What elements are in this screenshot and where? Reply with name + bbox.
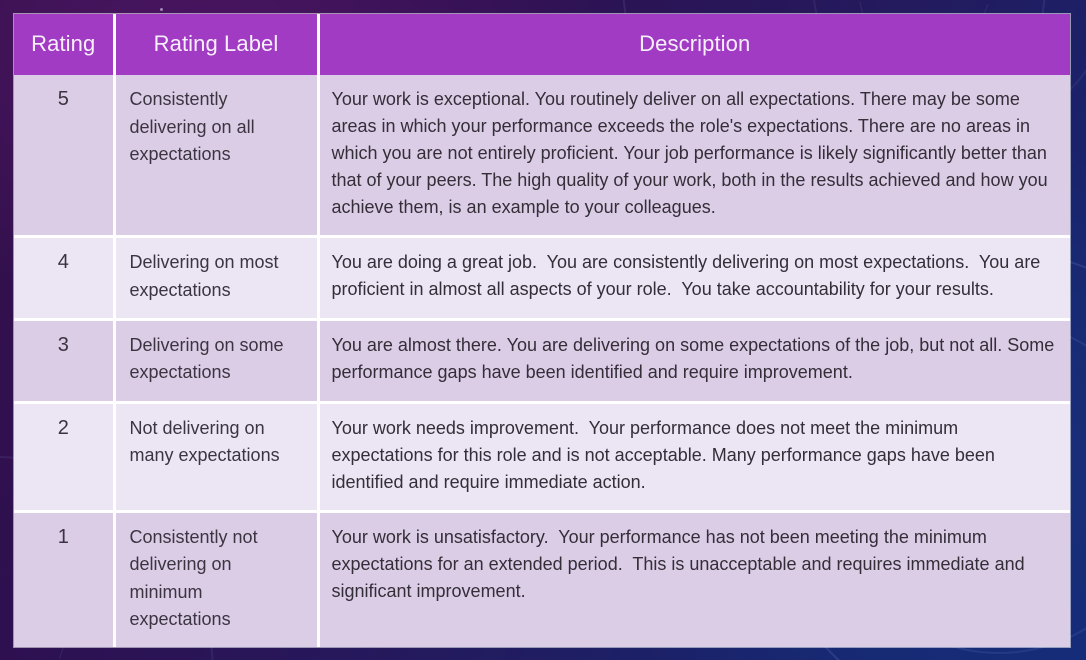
- cell-description: You are doing a great job. You are consi…: [318, 237, 1070, 320]
- cell-rating: 3: [14, 320, 114, 403]
- table-row: 3 Delivering on some expectations You ar…: [14, 320, 1070, 403]
- cell-rating-label: Delivering on some expectations: [114, 320, 318, 403]
- cell-rating: 1: [14, 511, 114, 647]
- cell-description: Your work needs improvement. Your perfor…: [318, 402, 1070, 511]
- cell-rating-label: Not delivering on many expectations: [114, 402, 318, 511]
- performance-rating-table: Rating Rating Label Description 5 Consis…: [14, 14, 1070, 647]
- table-row: 4 Delivering on most expectations You ar…: [14, 237, 1070, 320]
- table-row: 5 Consistently delivering on all expecta…: [14, 75, 1070, 237]
- table-row: 2 Not delivering on many expectations Yo…: [14, 402, 1070, 511]
- table-body: 5 Consistently delivering on all expecta…: [14, 75, 1070, 647]
- table-row: 1 Consistently not delivering on minimum…: [14, 511, 1070, 647]
- cell-rating: 2: [14, 402, 114, 511]
- cell-rating: 4: [14, 237, 114, 320]
- cell-rating-label: Consistently delivering on all expectati…: [114, 75, 318, 237]
- cell-description: Your work is exceptional. You routinely …: [318, 75, 1070, 237]
- cell-description: Your work is unsatisfactory. Your perfor…: [318, 511, 1070, 647]
- column-header-rating-label: Rating Label: [114, 14, 318, 75]
- cell-rating-label: Delivering on most expectations: [114, 237, 318, 320]
- column-header-description: Description: [318, 14, 1070, 75]
- cell-rating-label: Consistently not delivering on minimum e…: [114, 511, 318, 647]
- slide-canvas: Rating Rating Label Description 5 Consis…: [0, 0, 1086, 660]
- table-header: Rating Rating Label Description: [14, 14, 1070, 75]
- column-header-rating: Rating: [14, 14, 114, 75]
- decorative-dot: [160, 8, 163, 11]
- cell-description: You are almost there. You are delivering…: [318, 320, 1070, 403]
- cell-rating: 5: [14, 75, 114, 237]
- table-header-row: Rating Rating Label Description: [14, 14, 1070, 75]
